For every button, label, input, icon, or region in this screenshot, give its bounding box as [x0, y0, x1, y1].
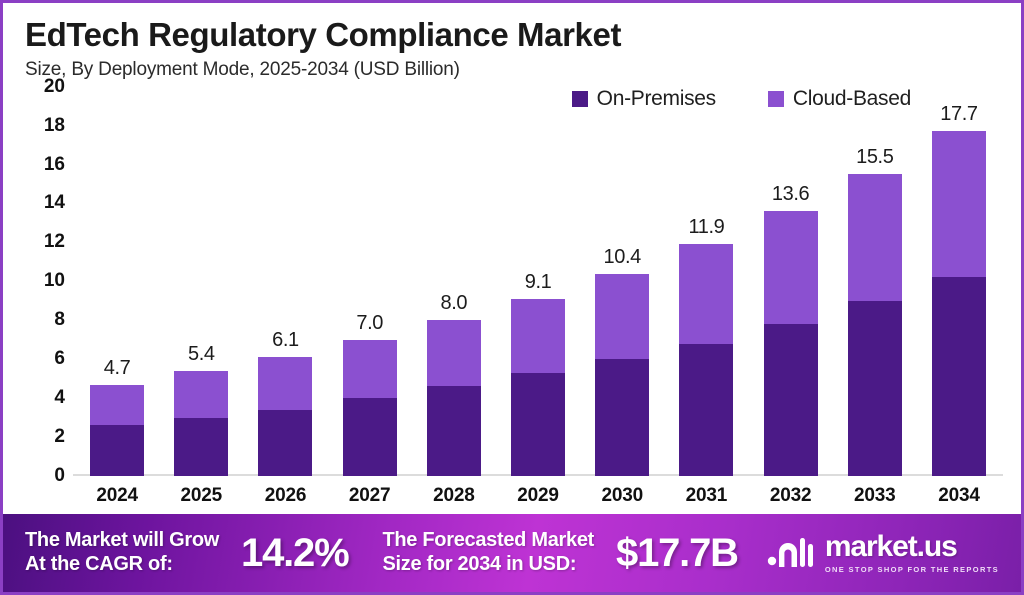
bar-segment-cloud-based[interactable]	[511, 299, 565, 373]
brand-logo[interactable]: market.us ONE STOP SHOP FOR THE REPORTS	[766, 532, 1005, 574]
bar-segment-cloud-based[interactable]	[90, 385, 144, 426]
bar-segment-cloud-based[interactable]	[848, 174, 902, 301]
bar-value-label: 17.7	[917, 103, 1001, 126]
bar-segment-cloud-based[interactable]	[679, 244, 733, 343]
bar-segment-on-premises[interactable]	[932, 277, 986, 476]
brand-text: market.us ONE STOP SHOP FOR THE REPORTS	[825, 532, 999, 574]
bar-segment-on-premises[interactable]	[427, 386, 481, 476]
bar-segment-on-premises[interactable]	[174, 418, 228, 476]
bar-column-2030[interactable]: 10.4	[580, 87, 664, 476]
x-axis-tick-2032: 2032	[749, 485, 833, 507]
cagr-caption-line2: At the CAGR of:	[25, 553, 219, 577]
bar-value-label: 13.6	[749, 183, 833, 206]
bar-segment-cloud-based[interactable]	[595, 274, 649, 360]
bar-segment-on-premises[interactable]	[511, 373, 565, 476]
bar-segment-cloud-based[interactable]	[343, 340, 397, 398]
bar-segment-cloud-based[interactable]	[764, 211, 818, 324]
bar-stack[interactable]	[848, 174, 902, 476]
x-axis: 2024202520262027202820292030203120322033…	[75, 478, 1001, 514]
y-axis-tick: 8	[19, 309, 65, 331]
bar-value-label: 8.0	[412, 292, 496, 315]
bar-series-container: 4.75.46.17.08.09.110.411.913.615.517.7	[75, 87, 1001, 476]
footer-summary-bar: The Market will Grow At the CAGR of: 14.…	[3, 514, 1021, 592]
legend-swatch-icon	[768, 91, 784, 107]
y-axis: 02468101214161820	[17, 87, 73, 476]
cagr-caption-line1: The Market will Grow	[25, 529, 219, 553]
y-axis-tick: 6	[19, 348, 65, 370]
y-axis-tick: 10	[19, 270, 65, 292]
bar-value-label: 6.1	[243, 329, 327, 352]
y-axis-tick: 20	[19, 76, 65, 98]
bar-value-label: 10.4	[580, 246, 664, 269]
bar-stack[interactable]	[932, 131, 986, 476]
y-axis-tick: 4	[19, 387, 65, 409]
forecast-block: The Forecasted Market Size for 2034 in U…	[382, 529, 737, 576]
x-axis-tick-2027: 2027	[328, 485, 412, 507]
legend-item-2[interactable]: Cloud-Based	[768, 87, 911, 111]
y-axis-tick: 14	[19, 192, 65, 214]
bar-segment-on-premises[interactable]	[90, 425, 144, 476]
bar-stack[interactable]	[679, 244, 733, 476]
bar-column-2032[interactable]: 13.6	[749, 87, 833, 476]
bar-value-label: 7.0	[328, 312, 412, 335]
bar-stack[interactable]	[427, 320, 481, 476]
market-us-logo-icon	[766, 534, 816, 573]
bar-segment-on-premises[interactable]	[679, 344, 733, 476]
chart-legend: On-PremisesCloud-Based	[572, 87, 911, 111]
bar-column-2026[interactable]: 6.1	[243, 87, 327, 476]
bar-segment-on-premises[interactable]	[595, 359, 649, 476]
x-axis-tick-2030: 2030	[580, 485, 664, 507]
bar-value-label: 9.1	[496, 271, 580, 294]
legend-swatch-icon	[572, 91, 588, 107]
bar-stack[interactable]	[343, 340, 397, 476]
cagr-caption: The Market will Grow At the CAGR of:	[25, 529, 219, 576]
brand-name: market.us	[825, 532, 999, 562]
bar-stack[interactable]	[764, 211, 818, 476]
bar-segment-cloud-based[interactable]	[258, 357, 312, 410]
bar-segment-on-premises[interactable]	[343, 398, 397, 476]
y-axis-tick: 16	[19, 154, 65, 176]
page-title: EdTech Regulatory Compliance Market	[25, 17, 1021, 53]
bar-column-2024[interactable]: 4.7	[75, 87, 159, 476]
bar-value-label: 15.5	[833, 146, 917, 169]
x-axis-tick-2029: 2029	[496, 485, 580, 507]
bar-stack[interactable]	[511, 299, 565, 476]
bar-value-label: 5.4	[159, 343, 243, 366]
bar-stack[interactable]	[595, 274, 649, 476]
bar-segment-on-premises[interactable]	[764, 324, 818, 476]
x-axis-tick-2025: 2025	[159, 485, 243, 507]
y-axis-tick: 0	[19, 465, 65, 487]
bar-segment-on-premises[interactable]	[258, 410, 312, 476]
bar-value-label: 4.7	[75, 357, 159, 380]
cagr-value: 14.2%	[241, 531, 348, 576]
x-axis-tick-2031: 2031	[664, 485, 748, 507]
legend-item-1[interactable]: On-Premises	[572, 87, 716, 111]
chart-plot-area: On-PremisesCloud-Based 02468101214161820…	[17, 87, 1007, 514]
bar-column-2034[interactable]: 17.7	[917, 87, 1001, 476]
forecast-caption-line1: The Forecasted Market	[382, 529, 594, 553]
x-axis-tick-2026: 2026	[243, 485, 327, 507]
infographic-root: EdTech Regulatory Compliance Market Size…	[0, 0, 1024, 595]
bar-segment-cloud-based[interactable]	[427, 320, 481, 386]
header: EdTech Regulatory Compliance Market Size…	[3, 3, 1021, 81]
cagr-block: The Market will Grow At the CAGR of: 14.…	[25, 529, 348, 576]
bar-column-2028[interactable]: 8.0	[412, 87, 496, 476]
y-axis-tick: 18	[19, 115, 65, 137]
forecast-caption: The Forecasted Market Size for 2034 in U…	[382, 529, 594, 576]
legend-label: Cloud-Based	[793, 87, 911, 111]
brand-tagline: ONE STOP SHOP FOR THE REPORTS	[825, 566, 999, 574]
bar-stack[interactable]	[90, 385, 144, 477]
x-axis-tick-2028: 2028	[412, 485, 496, 507]
bar-segment-cloud-based[interactable]	[932, 131, 986, 277]
y-axis-tick: 2	[19, 426, 65, 448]
bar-segment-on-premises[interactable]	[848, 301, 902, 476]
y-axis-tick: 12	[19, 231, 65, 253]
bar-column-2029[interactable]: 9.1	[496, 87, 580, 476]
bar-segment-cloud-based[interactable]	[174, 371, 228, 418]
bar-stack[interactable]	[174, 371, 228, 476]
page-subtitle: Size, By Deployment Mode, 2025-2034 (USD…	[25, 59, 1021, 81]
legend-label: On-Premises	[597, 87, 716, 111]
bar-column-2031[interactable]: 11.9	[664, 87, 748, 476]
x-axis-tick-2034: 2034	[917, 485, 1001, 507]
bar-column-2027[interactable]: 7.0	[328, 87, 412, 476]
forecast-caption-line2: Size for 2034 in USD:	[382, 553, 594, 577]
x-axis-tick-2024: 2024	[75, 485, 159, 507]
bar-column-2033[interactable]: 15.5	[833, 87, 917, 476]
x-axis-tick-2033: 2033	[833, 485, 917, 507]
bar-stack[interactable]	[258, 357, 312, 476]
bar-value-label: 11.9	[664, 216, 748, 239]
bar-column-2025[interactable]: 5.4	[159, 87, 243, 476]
forecast-value: $17.7B	[616, 531, 738, 576]
